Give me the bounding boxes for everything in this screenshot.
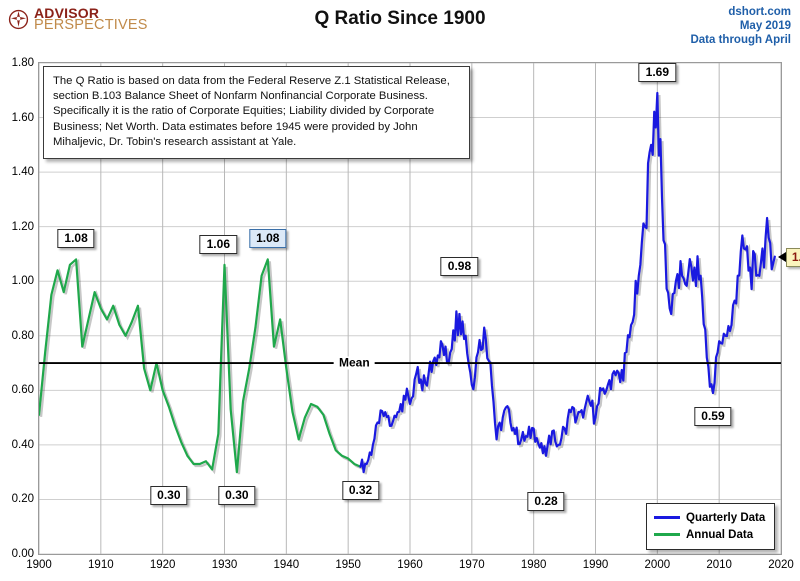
legend-swatch-quarterly [654, 516, 680, 519]
x-tick-label: 1910 [88, 559, 114, 571]
current-value-callout: 1.09 [786, 248, 800, 267]
callout-peak-1937: 1.08 [249, 229, 286, 248]
y-tick-label: 0.20 [0, 493, 34, 505]
legend-item-annual: Annual Data [654, 526, 765, 543]
y-tick-label: 0.80 [0, 330, 34, 342]
callout-peak-1968: 0.98 [441, 257, 478, 276]
y-tick-label: 1.40 [0, 166, 34, 178]
x-tick-label: 1930 [212, 559, 238, 571]
callout-trough-1952: 0.32 [342, 481, 379, 500]
x-tick-label: 2010 [706, 559, 732, 571]
mean-line-label: Mean [334, 357, 375, 370]
series-line-annual [39, 259, 361, 472]
legend-label-quarterly: Quarterly Data [686, 512, 765, 524]
x-tick-label: 1970 [459, 559, 485, 571]
methodology-note: The Q Ratio is based on data from the Fe… [43, 66, 470, 159]
y-tick-label: 0.40 [0, 439, 34, 451]
series-shadow-0 [41, 261, 363, 474]
current-value-arrow-icon [778, 252, 786, 262]
callout-peak-1929: 1.06 [200, 235, 237, 254]
x-tick-label: 1960 [397, 559, 423, 571]
q-ratio-chart: ADVISOR PERSPECTIVES Q Ratio Since 1900 … [0, 0, 800, 581]
y-tick-label: 1.20 [0, 221, 34, 233]
y-tick-label: 0.60 [0, 384, 34, 396]
x-tick-label: 2000 [645, 559, 671, 571]
callout-peak-1906: 1.08 [57, 229, 94, 248]
legend: Quarterly Data Annual Data [646, 503, 775, 550]
callout-trough-1932: 0.30 [218, 486, 255, 505]
x-tick-label: 1950 [335, 559, 361, 571]
legend-label-annual: Annual Data [686, 529, 753, 541]
callout-trough-1982: 0.28 [527, 492, 564, 511]
y-tick-label: 1.80 [0, 57, 34, 69]
y-tick-label: 1.60 [0, 112, 34, 124]
x-tick-label: 2020 [768, 559, 794, 571]
x-tick-label: 1940 [274, 559, 300, 571]
callout-peak-2000: 1.69 [639, 63, 676, 82]
x-tick-label: 1980 [521, 559, 547, 571]
callout-trough-2009: 0.59 [694, 407, 731, 426]
x-tick-label: 1900 [26, 559, 52, 571]
x-tick-label: 1920 [150, 559, 176, 571]
callout-trough-1921: 0.30 [150, 486, 187, 505]
y-tick-label: 1.00 [0, 275, 34, 287]
legend-item-quarterly: Quarterly Data [654, 509, 765, 526]
legend-swatch-annual [654, 533, 680, 536]
x-tick-label: 1990 [583, 559, 609, 571]
